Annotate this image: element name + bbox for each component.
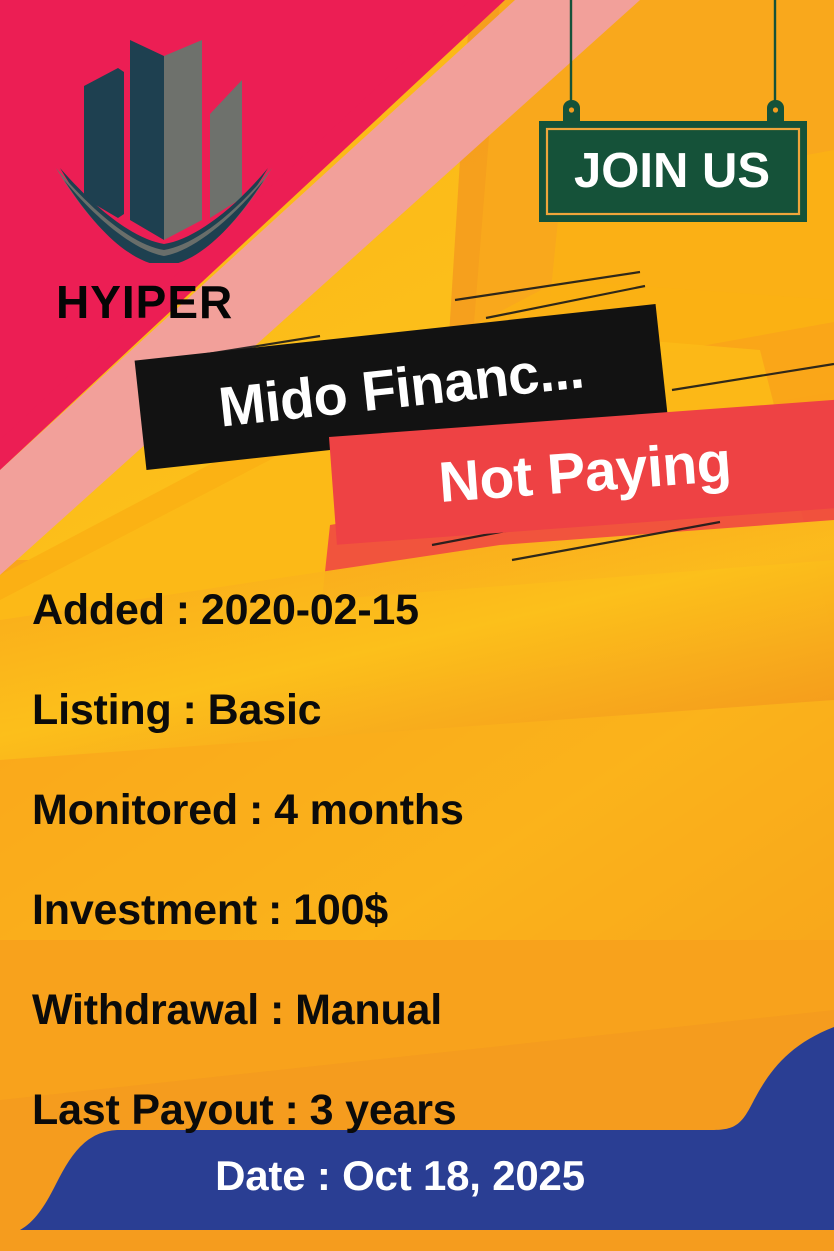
brand-name: HYIPER [56, 275, 233, 329]
building-chevron-logo-icon [52, 28, 277, 263]
hyip-listing-banner: HYIPER JOIN US Mido Financ... Not Paying… [0, 0, 834, 1251]
detail-value: 2020-02-15 [201, 586, 419, 635]
detail-row-last-payout: Last Payout : 3 years [32, 1060, 802, 1160]
detail-row-investment: Investment : 100$ [32, 860, 802, 960]
detail-separator: : [268, 886, 282, 935]
detail-row-listing: Listing : Basic [32, 660, 802, 760]
detail-row-monitored: Monitored : 4 months [32, 760, 802, 860]
date-label: Date : Oct 18, 2025 [0, 1152, 800, 1200]
detail-label: Investment [32, 886, 257, 935]
detail-separator: : [270, 986, 284, 1035]
detail-label: Monitored [32, 786, 238, 835]
detail-label: Listing [32, 686, 172, 735]
detail-separator: : [249, 786, 263, 835]
detail-separator: : [183, 686, 197, 735]
detail-row-withdrawal: Withdrawal : Manual [32, 960, 802, 1060]
join-us-label[interactable]: JOIN US [527, 118, 817, 223]
detail-separator: : [285, 1086, 299, 1135]
program-details-list: Added : 2020-02-15 Listing : Basic Monit… [32, 560, 802, 1160]
detail-value: Basic [208, 686, 322, 735]
detail-label: Added [32, 586, 165, 635]
detail-row-added: Added : 2020-02-15 [32, 560, 802, 660]
detail-value: Manual [295, 986, 442, 1035]
detail-label: Withdrawal [32, 986, 259, 1035]
detail-value: 4 months [274, 786, 464, 835]
detail-value: 100$ [293, 886, 388, 935]
detail-value: 3 years [310, 1086, 457, 1135]
detail-separator: : [176, 586, 190, 635]
detail-label: Last Payout [32, 1086, 274, 1135]
